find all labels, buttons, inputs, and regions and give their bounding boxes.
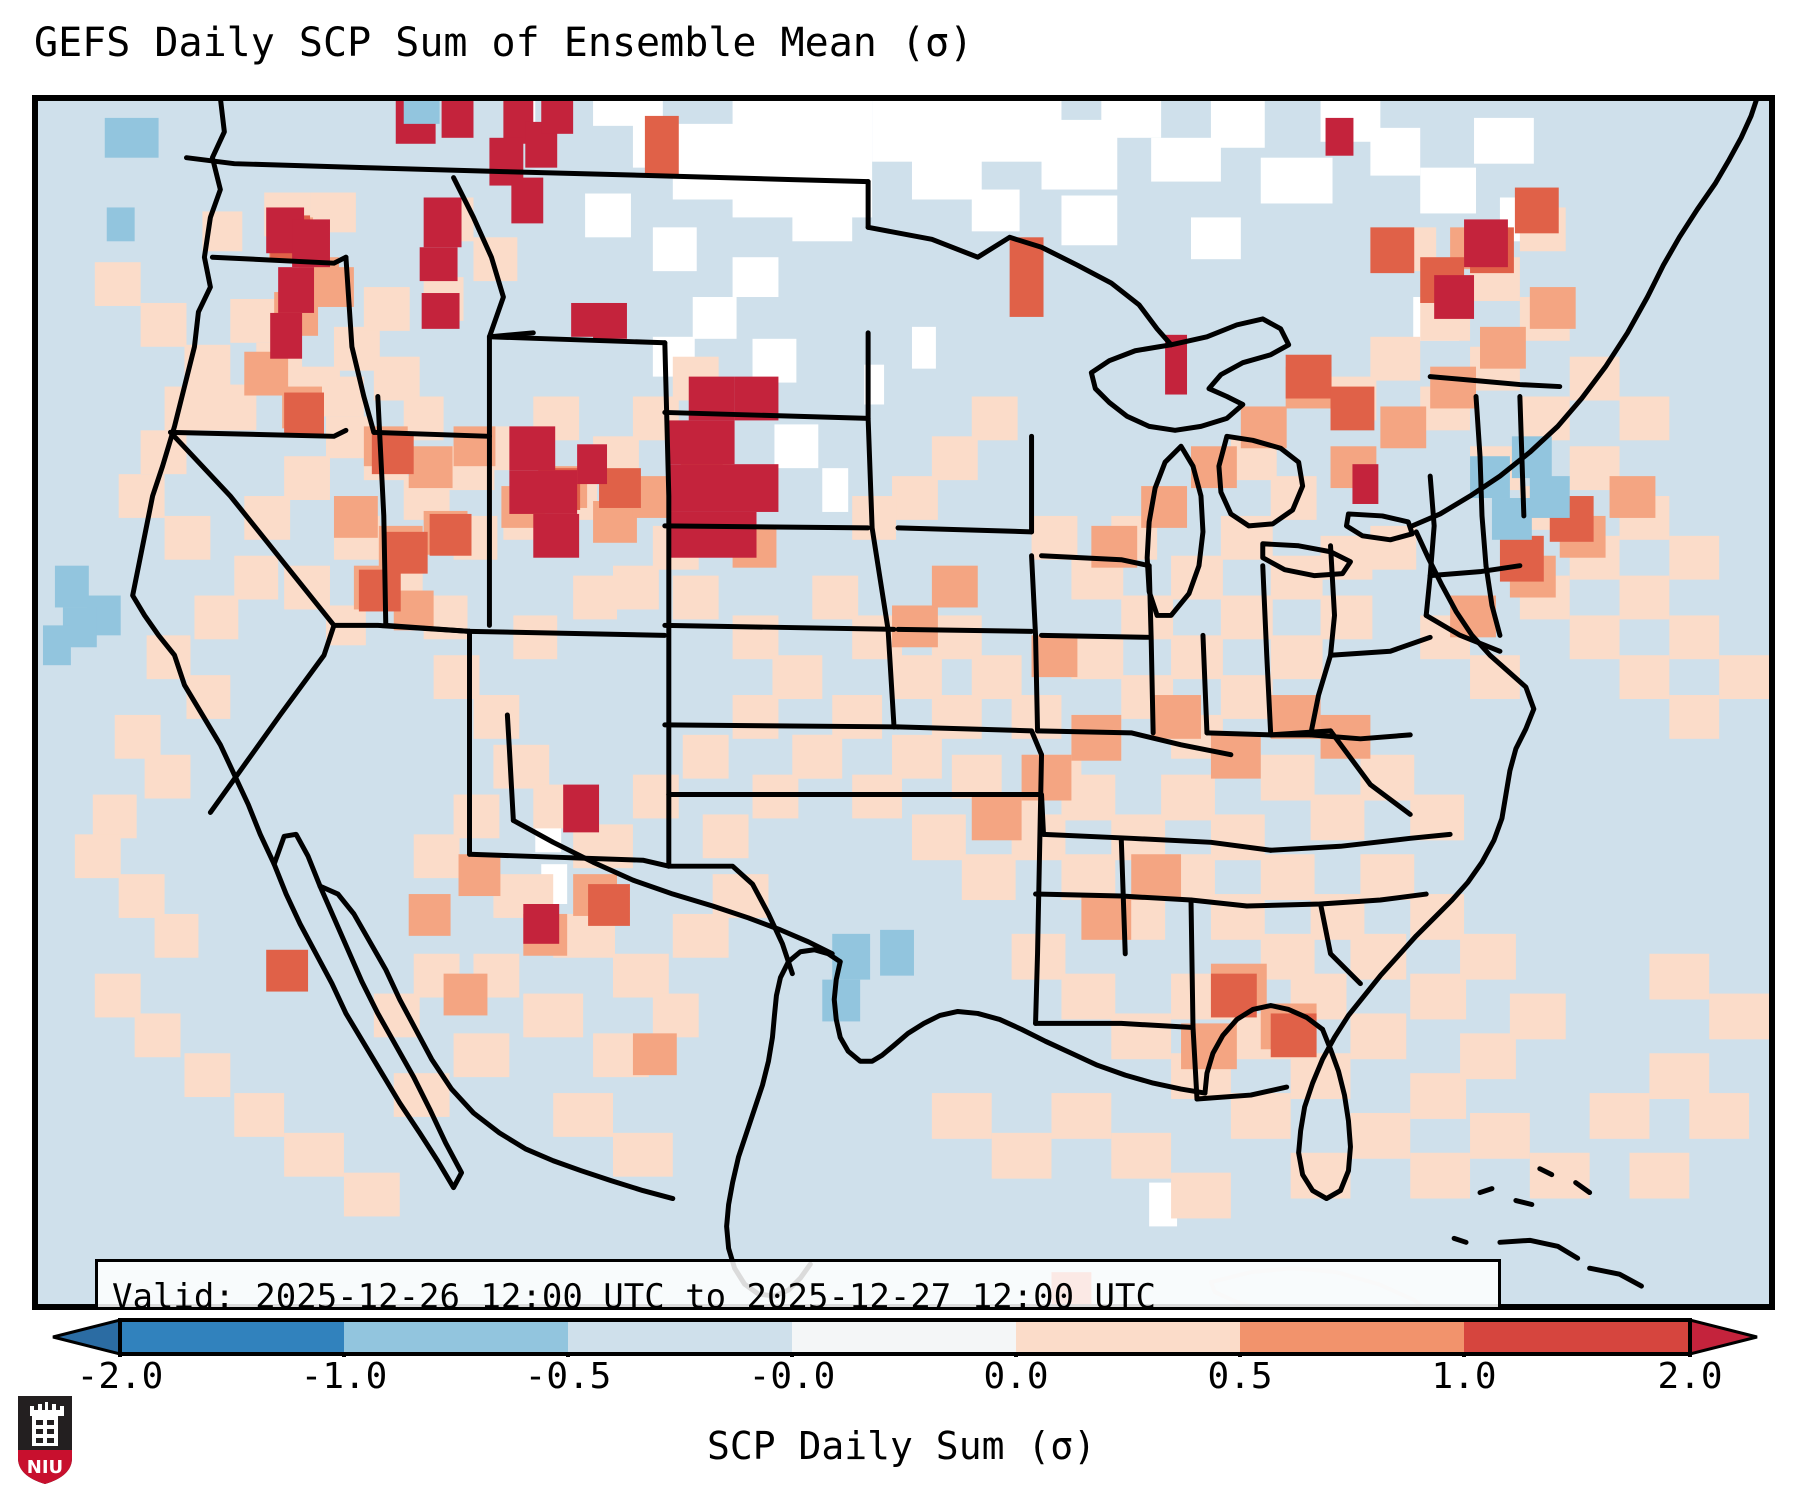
- colorbar-under-arrow: [53, 1320, 120, 1354]
- colorbar-tick-label: -0.0: [749, 1356, 836, 1397]
- colorbar-tick-label: -0.5: [525, 1356, 612, 1397]
- colorbar-tick-label: -1.0: [301, 1356, 388, 1397]
- colorbar-tick-label: 0.0: [983, 1356, 1048, 1397]
- niu-logo: NIU: [14, 1392, 76, 1486]
- map-panel: Valid: 2025-12-26 12:00 UTC to 2025-12-2…: [32, 95, 1775, 1310]
- colorbar-tick-label: 1.0: [1431, 1356, 1496, 1397]
- colorbar-svg: [0, 1317, 1803, 1357]
- colorbar-tick-label: 0.5: [1207, 1356, 1272, 1397]
- scp-heatmap-svg: [35, 98, 1772, 1307]
- page-title: GEFS Daily SCP Sum of Ensemble Mean (σ): [34, 20, 973, 66]
- colorbar-segments: [120, 1320, 1690, 1354]
- colorbar: [0, 1317, 1803, 1357]
- colorbar-tick-labels: -2.0 -1.0 -0.5 -0.0 0.0 0.5 1.0 2.0: [0, 1356, 1803, 1402]
- colorbar-over-arrow: [1690, 1320, 1757, 1354]
- forecast-info-box: Valid: 2025-12-26 12:00 UTC to 2025-12-2…: [95, 1259, 1501, 1310]
- colorbar-tick-label: -2.0: [77, 1356, 164, 1397]
- colorbar-tick-label: 2.0: [1657, 1356, 1722, 1397]
- valid-time-text: Valid: 2025-12-26 12:00 UTC to 2025-12-2…: [112, 1274, 1498, 1310]
- niu-logo-text: NIU: [27, 1457, 63, 1478]
- colorbar-axis-label: SCP Daily Sum (σ): [0, 1424, 1803, 1468]
